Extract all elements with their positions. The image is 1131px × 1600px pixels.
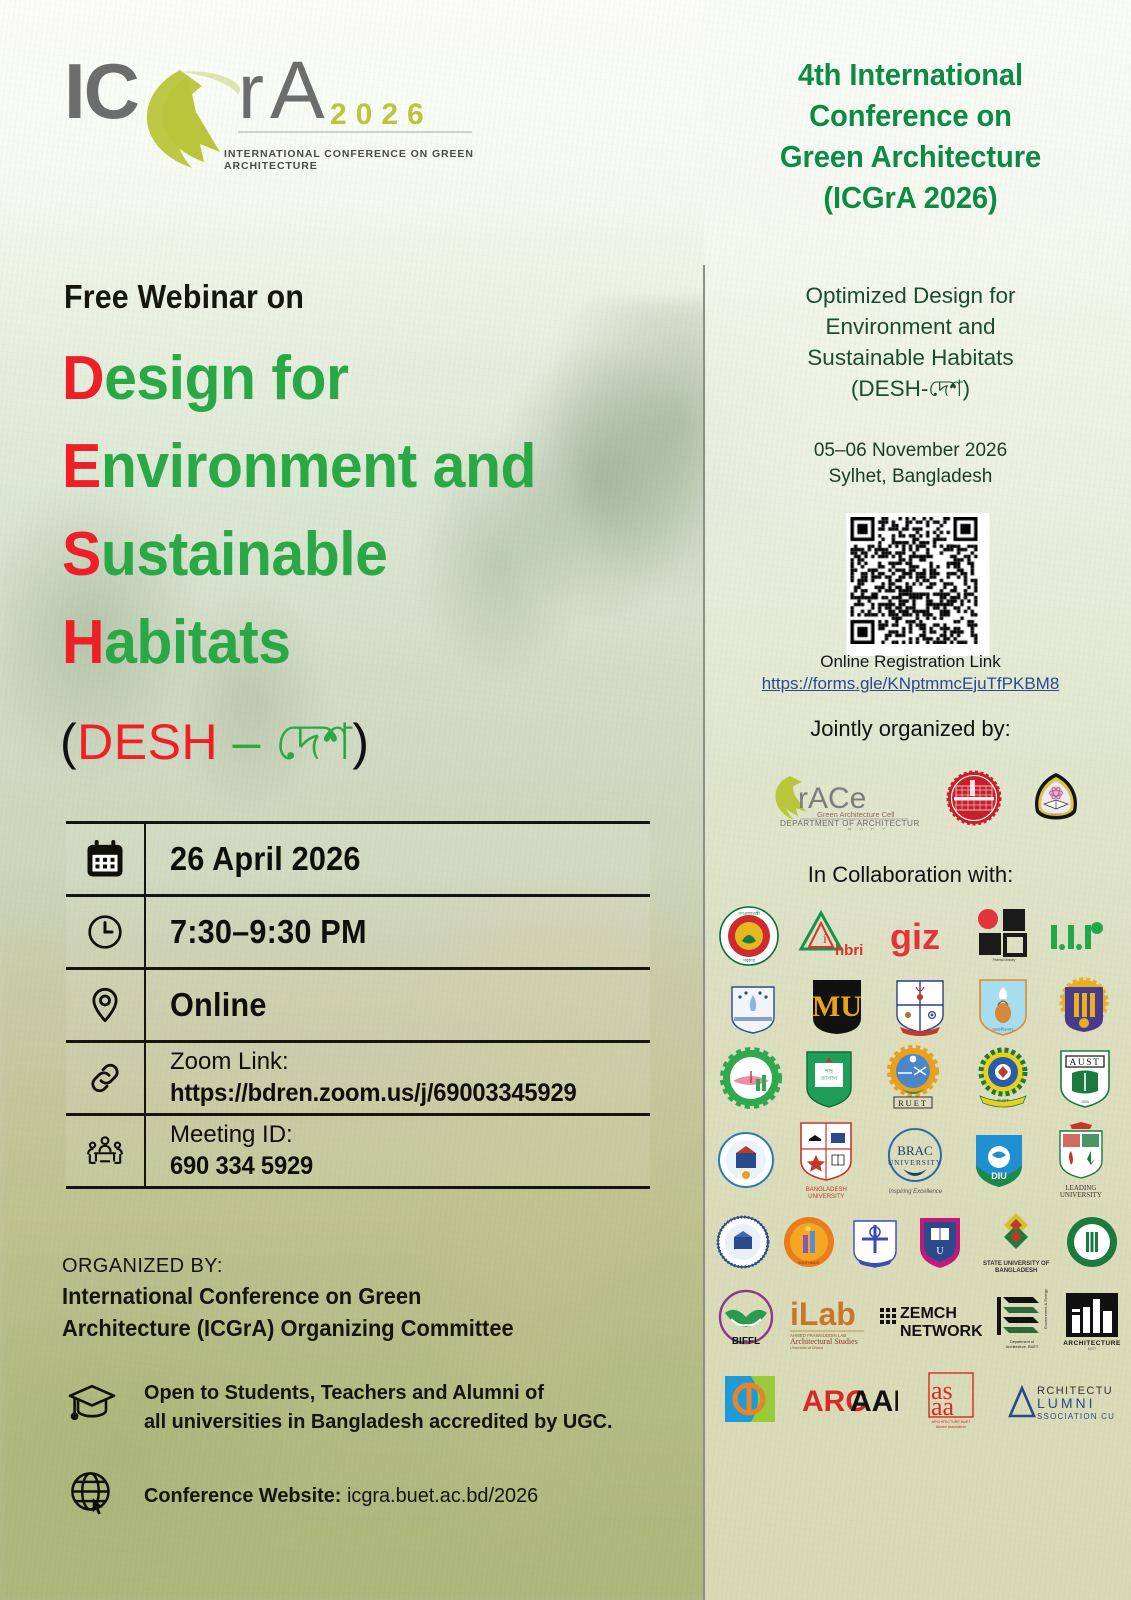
svg-text:MU: MU — [812, 990, 862, 1023]
svg-text:A: A — [270, 52, 325, 136]
website-url[interactable]: icgra.buet.ac.bd/2026 — [347, 1484, 538, 1507]
lil-green-logo — [1048, 913, 1118, 959]
arcaab-logo: ARC AAB — [800, 1379, 898, 1421]
conference-title: 4th International Conference on Green Ar… — [716, 54, 1104, 218]
meeting-people-icon — [66, 1116, 146, 1186]
collaborator-row-1: গণপ্রজাতন্ত্রী সরকার í hbri giz — [710, 905, 1125, 967]
poster-canvas: IC r A 2026 INTERNATIONAL CONFERENCE ON … — [0, 0, 1131, 1600]
conference-theme: Optimized Design for Environment and Sus… — [704, 280, 1117, 404]
brac-university-caption: Inspiring Excellence — [889, 1189, 942, 1196]
svg-text:শাহ: শাহ — [824, 1069, 834, 1075]
pstu-logo — [717, 1131, 775, 1189]
svg-text:Alumni Association: Alumni Association — [936, 1425, 966, 1429]
detail-value-date: 26 April 2026 — [146, 840, 375, 878]
leading-university-logo: LEADING UNIVERSITY — [1044, 1121, 1118, 1199]
svg-text:iLab: iLab — [790, 1296, 856, 1332]
asaa-logo: as aa ARCHITECTURE BUET Alumni Associati… — [919, 1369, 983, 1431]
detail-value-meeting-id: Meeting ID: 690 334 5929 — [146, 1120, 321, 1182]
registration-label: Online Registration Link — [704, 652, 1117, 672]
giz-logo: giz — [886, 911, 960, 961]
graduation-cap-icon — [66, 1381, 118, 1434]
mu-logo: MU — [807, 976, 867, 1036]
state-university-caption: STATE UNIVERSITY OF BANGLADESH — [979, 1261, 1053, 1275]
title-line-1: Design for — [62, 335, 670, 423]
bangladesh-university-logo: BANGLADESH UNIVERSITY — [789, 1119, 863, 1201]
location-pin-icon — [66, 970, 146, 1040]
collaborator-row-7: ARC AAB as aa ARCHITECTURE BUET Alumni A… — [710, 1369, 1125, 1431]
svg-text:Green Architecture Cell: Green Architecture Cell — [817, 810, 895, 819]
conference-title-line-3: Green Architecture — [716, 136, 1104, 177]
website-row[interactable]: Conference Website: icgra.buet.ac.bd/202… — [66, 1468, 550, 1523]
svg-text:BRAC: BRAC — [898, 1143, 933, 1158]
primeasia-university-logo — [716, 1215, 770, 1269]
detail-row-meeting-id: Meeting ID: 690 334 5929 — [66, 1116, 650, 1189]
sust-seal-logo: SUST — [1028, 770, 1084, 826]
hbri-logo: í hbri — [795, 907, 871, 965]
zemch-network-logo: ZEMCH NETWORK — [878, 1296, 982, 1344]
collaborator-row-6: BIFFL iLab AHMED FRAWSUDDIN LAB Architec… — [710, 1289, 1125, 1351]
svg-text:RUET: RUET — [899, 1099, 929, 1108]
detail-value-location: Online — [146, 986, 274, 1024]
svg-text:DUET: DUET — [997, 1098, 1009, 1103]
meeting-id-value: 690 334 5929 — [170, 1150, 313, 1182]
svg-text:BUET: BUET — [1087, 1347, 1096, 1351]
conference-title-line-2: Conference on — [716, 95, 1104, 136]
svg-text:r: r — [238, 52, 263, 135]
svg-text:AAB: AAB — [850, 1385, 898, 1418]
collaborator-logos-grid: গণপ্রজাতন্ত্রী সরকার í hbri giz — [710, 905, 1125, 1439]
shahjalal-university-logo: শাহ জালাল — [801, 1047, 857, 1109]
organized-by-block: ORGANIZED BY: International Conference o… — [62, 1252, 537, 1344]
detail-value-zoom-link[interactable]: Zoom Link: https://bdren.zoom.us/j/69003… — [146, 1047, 598, 1109]
svg-text:ARCHITECTURE BUET: ARCHITECTURE BUET — [932, 1420, 972, 1424]
aust-logo: AUST 1995 — [1055, 1047, 1115, 1109]
svg-text:Federal Ministry: Federal Ministry — [992, 958, 1015, 962]
svg-text:B U E T: B U E T — [848, 828, 888, 830]
svg-text:U: U — [937, 1246, 945, 1257]
state-university-bangladesh-logo: STATE UNIVERSITY OF BANGLADESH — [979, 1209, 1053, 1275]
svg-text:í: í — [823, 932, 827, 947]
buet-seal-logo — [946, 770, 1002, 826]
svg-text:DEPARTMENT OF ARCHITECTURE: DEPARTMENT OF ARCHITECTURE — [780, 819, 920, 828]
theme-line-2: Environment and — [704, 311, 1117, 342]
conference-title-line-1: 4th International — [716, 54, 1104, 95]
svg-text:NETWORK: NETWORK — [900, 1323, 982, 1340]
collaborator-row-5: SOUTHEAST — [710, 1209, 1125, 1275]
diu-logo: DIU — [968, 1129, 1030, 1191]
registration-qr-code[interactable] — [846, 513, 989, 656]
zoom-link-label: Zoom Link: — [170, 1047, 598, 1077]
southeast-university-logo: SOUTHEAST — [782, 1215, 836, 1269]
leading-university-caption: LEADING UNIVERSITY — [1044, 1185, 1118, 1199]
kuet-logo — [1055, 977, 1113, 1035]
organizer-name-line2: Architecture (ICGrA) Organizing Committe… — [62, 1312, 514, 1344]
svg-text:Architecture, BUET: Architecture, BUET — [1006, 1345, 1039, 1349]
jointly-organized-label: Jointly organized by: — [704, 716, 1117, 742]
svg-text:জাহাঙ্গীরনগর: জাহাঙ্গীরনগর — [991, 1027, 1014, 1032]
event-details-table: 26 April 2026 7:30–9:30 PM — [66, 821, 650, 1189]
stamford-university-logo — [848, 1215, 902, 1269]
biffl-logo: BIFFL — [713, 1289, 779, 1351]
svg-text:AUST: AUST — [1070, 1058, 1101, 1068]
globe-icon — [66, 1468, 118, 1523]
svg-text:SUST: SUST — [1050, 812, 1061, 817]
calendar-icon — [66, 824, 146, 894]
bmz-blocks-logo: Federal Ministry — [975, 907, 1033, 965]
svg-text:IC: IC — [64, 52, 139, 135]
theme-line-4: (DESH-দেশ) — [704, 373, 1117, 404]
svg-text:University of Dhaka: University of Dhaka — [790, 1346, 824, 1349]
svg-text:ZEMCH: ZEMCH — [900, 1305, 957, 1322]
jahangirnagar-university-logo: জাহাঙ্গীরনগর — [974, 975, 1032, 1037]
svg-text:Architectural Studies: Architectural Studies — [790, 1337, 858, 1346]
website-text[interactable]: Conference Website: icgra.buet.ac.bd/202… — [144, 1481, 538, 1510]
meeting-id-label: Meeting ID: — [170, 1120, 321, 1150]
svg-text:সরকার: সরকার — [741, 958, 755, 963]
conference-date: 05–06 November 2026 — [704, 438, 1117, 464]
svg-text:ARCHITECTURE: ARCHITECTURE — [1063, 1340, 1121, 1347]
grace-buet-logo: rACe Green Architecture Cell DEPARTMENT … — [762, 766, 920, 830]
conference-title-line-4: (ICGrA 2026) — [716, 177, 1104, 218]
collaboration-label: In Collaboration with: — [704, 862, 1117, 888]
bangladesh-university-caption: BANGLADESH UNIVERSITY — [789, 1187, 863, 1201]
collaborator-row-4: BANGLADESH UNIVERSITY BRAC UNIVERSITY In… — [710, 1119, 1125, 1201]
svg-text:hbri: hbri — [835, 942, 863, 959]
icgra-logo-tagline: INTERNATIONAL CONFERENCE ON GREEN ARCHIT… — [224, 148, 482, 172]
conference-date-venue: 05–06 November 2026 Sylhet, Bangladesh — [704, 438, 1117, 490]
detail-row-zoom-link[interactable]: Zoom Link: https://bdren.zoom.us/j/69003… — [66, 1043, 650, 1116]
govt-bangladesh-seal-logo: গণপ্রজাতন্ত্রী সরকার — [718, 905, 780, 967]
zoom-link-url[interactable]: https://bdren.zoom.us/j/69003345929 — [170, 1077, 576, 1109]
webinar-title: Design for Environment and Sustainable H… — [62, 335, 702, 687]
cuet-logo — [720, 1047, 782, 1109]
iab-logo — [721, 1372, 779, 1428]
organizer-name-line1: International Conference on Green — [62, 1280, 514, 1312]
collaborator-row-3: শাহ জালাল RUET — [710, 1045, 1125, 1111]
uap-logo: U — [913, 1214, 967, 1270]
architecture-alumni-cuet-logo: RCHITECTURE LUMNI SSOCIATION CUET — [1004, 1376, 1114, 1424]
buet-crest-logo — [890, 975, 950, 1037]
duet-logo: DUET — [970, 1046, 1036, 1110]
svg-text:গণপ্রজাতন্ত্রী: গণপ্রজাতন্ত্রী — [738, 911, 760, 916]
kicker-free-webinar: Free Webinar on — [64, 278, 304, 316]
architecture-buet-logo: ARCHITECTURE BUET — [1062, 1289, 1122, 1351]
svg-text:SSOCIATION CUET: SSOCIATION CUET — [1037, 1412, 1114, 1421]
green-university-logo — [1065, 1215, 1119, 1269]
right-column: 4th International Conference on Green Ar… — [704, 0, 1131, 1600]
svg-text:Department of: Department of — [1010, 1340, 1035, 1344]
registration-link[interactable]: https://forms.gle/KNptmmcEjuTfPKBM8 — [704, 674, 1117, 694]
acronym-desh: (DESH – দেশ) — [60, 705, 369, 788]
dhaka-university-logo — [722, 975, 784, 1037]
dept-architecture-buet-logo: Environment & Energy Division Department… — [989, 1289, 1055, 1351]
eligibility-row: Open to Students, Teachers and Alumni of… — [66, 1378, 627, 1436]
svg-text:UNIVERSITY: UNIVERSITY — [888, 1158, 942, 1167]
svg-text:BIFFL: BIFFL — [732, 1336, 760, 1347]
title-line-3: Sustainable — [62, 511, 670, 599]
title-line-2: Environment and — [62, 423, 670, 511]
link-icon — [66, 1043, 146, 1113]
eligibility-text: Open to Students, Teachers and Alumni of… — [144, 1378, 613, 1436]
left-column: IC r A 2026 INTERNATIONAL CONFERENCE ON … — [0, 0, 703, 1600]
svg-text:aa: aa — [931, 1392, 955, 1421]
title-line-4: Habitats — [62, 599, 670, 687]
svg-text:1995: 1995 — [1081, 1100, 1089, 1104]
detail-row-date: 26 April 2026 — [66, 824, 650, 897]
svg-text:giz: giz — [890, 916, 940, 957]
detail-row-location: Online — [66, 970, 650, 1043]
svg-text:DIU: DIU — [991, 1171, 1007, 1181]
organized-by-label: ORGANIZED BY: — [62, 1252, 537, 1280]
collaborator-row-2: MU — [710, 975, 1125, 1037]
svg-text:LUMNI: LUMNI — [1037, 1395, 1096, 1411]
svg-text:জালাল: জালাল — [820, 1076, 838, 1082]
clock-icon — [66, 897, 146, 967]
theme-line-3: Sustainable Habitats — [704, 342, 1117, 373]
icgra-logo: IC r A 2026 INTERNATIONAL CONFERENCE ON … — [62, 52, 482, 172]
ilab-logo: iLab AHMED FRAWSUDDIN LAB Architectural … — [786, 1291, 872, 1349]
svg-text:SOUTHEAST: SOUTHEAST — [798, 1261, 821, 1265]
detail-value-time: 7:30–9:30 PM — [146, 913, 382, 951]
ruet-logo: RUET — [876, 1045, 950, 1111]
organizer-logos: rACe Green Architecture Cell DEPARTMENT … — [730, 750, 1115, 846]
conference-venue: Sylhet, Bangladesh — [704, 464, 1117, 490]
theme-line-1: Optimized Design for — [704, 280, 1117, 311]
svg-text:Environment & Energy Division: Environment & Energy Division — [1043, 1289, 1048, 1329]
brac-university-logo: BRAC UNIVERSITY Inspiring Excellence — [877, 1125, 953, 1196]
svg-text:2026: 2026 — [330, 98, 433, 131]
detail-row-time: 7:30–9:30 PM — [66, 897, 650, 970]
